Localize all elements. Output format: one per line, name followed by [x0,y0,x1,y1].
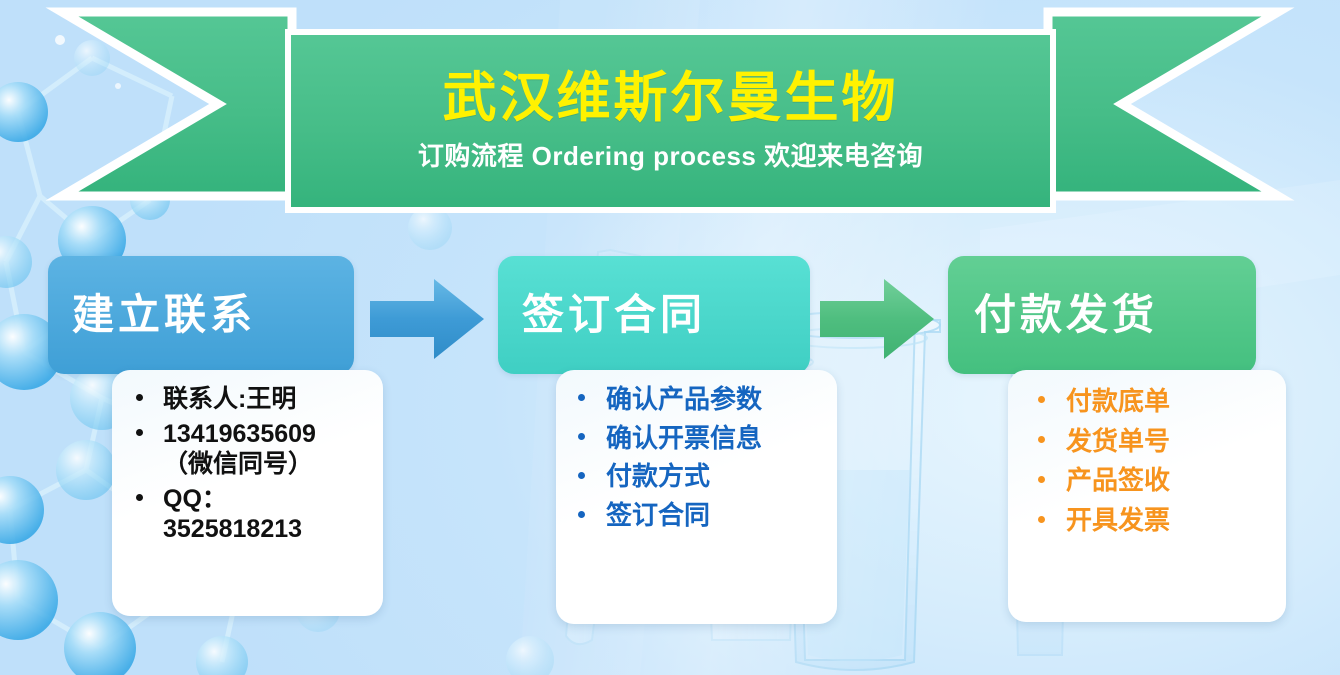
list-item-label: 确认产品参数 [606,384,827,416]
step-3-body: 付款底单 发货单号 产品签收 开具发票 [1008,370,1286,622]
step-2-header: 签订合同 [498,256,810,374]
bullet-icon [1038,516,1045,523]
step-3-header: 付款发货 [948,256,1256,374]
bullet-icon [1038,396,1045,403]
bullet-icon [578,394,585,401]
step-3-list: 付款底单 发货单号 产品签收 开具发票 [1038,386,1276,537]
bullet-icon [1038,436,1045,443]
step-2-body: 确认产品参数 确认开票信息 付款方式 签订合同 [556,370,837,624]
ribbon-center-panel [288,32,1053,210]
list-item: QQ： 3525818213 [136,484,373,545]
list-item-label: 付款底单 [1066,386,1276,418]
list-item-label: 13419635609 （微信同号） [163,419,373,480]
list-item: 开具发票 [1038,505,1276,537]
list-item: 付款方式 [578,461,827,493]
step-1-header: 建立联系 [48,256,354,374]
bullet-icon [578,472,585,479]
arrow-step1-to-step2-icon [368,277,486,361]
bullet-icon [578,511,585,518]
list-item: 付款底单 [1038,386,1276,418]
ribbon-banner [0,0,1340,232]
list-item: 发货单号 [1038,426,1276,458]
step-1-header-label: 建立联系 [72,294,256,336]
arrow-step2-to-step3-icon [818,277,936,361]
list-item-label: 签订合同 [606,500,827,532]
poster-canvas: 武汉维斯尔曼生物 订购流程 Ordering process 欢迎来电咨询 建立… [0,0,1340,675]
step-1-body: 联系人:王明 13419635609 （微信同号） QQ： 3525818213 [112,370,383,616]
ribbon-right-tail [1048,12,1278,196]
bullet-icon [136,394,143,401]
list-item-label: 发货单号 [1066,426,1276,458]
list-item-label: QQ： 3525818213 [163,484,373,545]
step-2-list: 确认产品参数 确认开票信息 付款方式 签订合同 [578,384,827,532]
list-item-label: 确认开票信息 [606,423,827,455]
list-item: 联系人:王明 [136,384,373,415]
step-3-header-label: 付款发货 [974,294,1158,336]
list-item: 产品签收 [1038,465,1276,497]
list-item: 确认产品参数 [578,384,827,416]
ribbon-left-tail [62,12,292,196]
list-item: 签订合同 [578,500,827,532]
bullet-icon [136,429,143,436]
bullet-icon [1038,476,1045,483]
list-item-label: 付款方式 [606,461,827,493]
list-item-label: 联系人:王明 [163,384,373,415]
list-item: 确认开票信息 [578,423,827,455]
list-item-label: 产品签收 [1066,465,1276,497]
bullet-icon [578,433,585,440]
step-1-list: 联系人:王明 13419635609 （微信同号） QQ： 3525818213 [136,384,373,545]
list-item-label: 开具发票 [1066,505,1276,537]
list-item: 13419635609 （微信同号） [136,419,373,480]
step-2-header-label: 签订合同 [522,294,706,336]
bullet-icon [136,494,143,501]
